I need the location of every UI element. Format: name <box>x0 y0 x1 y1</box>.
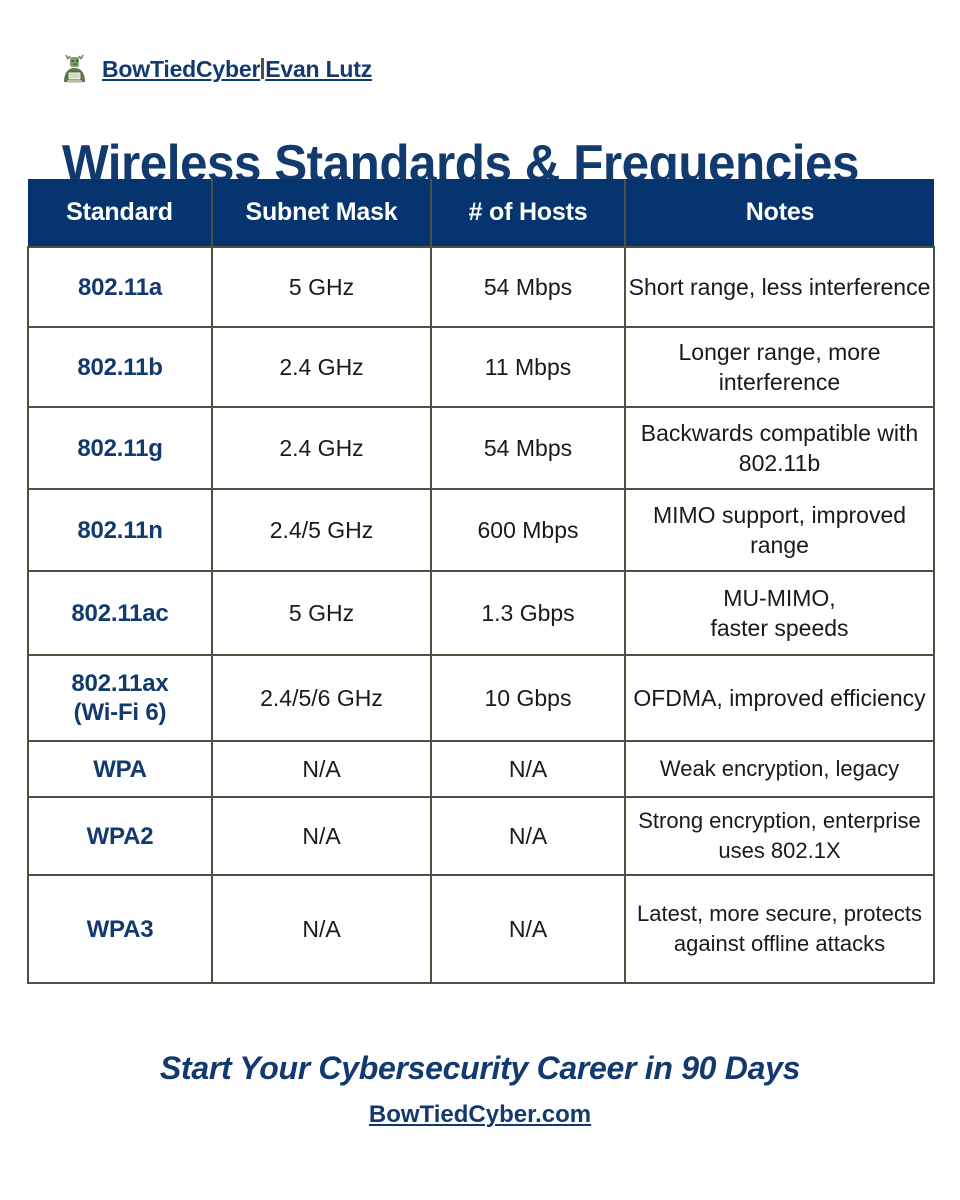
cell-notes: Weak encryption, legacy <box>625 741 934 797</box>
table-row: 802.11ax (Wi-Fi 6) 2.4/5/6 GHz 10 Gbps O… <box>28 655 934 741</box>
cell-notes: Latest, more secure, protects against of… <box>625 875 934 983</box>
table-header-row: Standard Subnet Mask # of Hosts Notes <box>28 179 934 247</box>
footer-website-link[interactable]: BowTiedCyber.com <box>369 1100 591 1130</box>
table-body: 802.11a 5 GHz 54 Mbps Short range, less … <box>28 247 934 983</box>
cell-standard: 802.11ax (Wi-Fi 6) <box>28 655 212 741</box>
brand-text: BowTiedCyber Evan Lutz <box>102 56 372 83</box>
bowtiedcyber-avatar-icon <box>58 52 92 86</box>
cell-subnet-mask: 2.4 GHz <box>212 407 431 489</box>
cell-subnet-mask: 2.4/5 GHz <box>212 489 431 571</box>
cell-notes: MIMO support, improved range <box>625 489 934 571</box>
cell-standard: 802.11g <box>28 407 212 489</box>
cell-notes: OFDMA, improved efficiency <box>625 655 934 741</box>
table-row: 802.11b 2.4 GHz 11 Mbps Longer range, mo… <box>28 327 934 407</box>
table-row: WPA N/A N/A Weak encryption, legacy <box>28 741 934 797</box>
cell-hosts: 54 Mbps <box>431 407 625 489</box>
brand-author-link[interactable]: Evan Lutz <box>265 56 372 83</box>
table-row: 802.11a 5 GHz 54 Mbps Short range, less … <box>28 247 934 327</box>
column-header-hosts: # of Hosts <box>431 179 625 247</box>
cell-standard: 802.11ac <box>28 571 212 655</box>
cell-hosts: N/A <box>431 741 625 797</box>
cell-standard: 802.11a <box>28 247 212 327</box>
footer: Start Your Cybersecurity Career in 90 Da… <box>0 1048 960 1130</box>
cell-standard: WPA2 <box>28 797 212 875</box>
cell-notes: Backwards compatible with 802.11b <box>625 407 934 489</box>
cell-subnet-mask: 2.4 GHz <box>212 327 431 407</box>
column-header-notes: Notes <box>625 179 934 247</box>
cell-hosts: 54 Mbps <box>431 247 625 327</box>
cell-standard: WPA3 <box>28 875 212 983</box>
table-row: 802.11ac 5 GHz 1.3 Gbps MU-MIMO, faster … <box>28 571 934 655</box>
cell-notes: MU-MIMO, faster speeds <box>625 571 934 655</box>
cell-notes: Strong encryption, enterprise uses 802.1… <box>625 797 934 875</box>
wireless-standards-table: Standard Subnet Mask # of Hosts Notes 80… <box>27 179 935 984</box>
table-row: WPA2 N/A N/A Strong encryption, enterpri… <box>28 797 934 875</box>
cell-notes: Longer range, more interference <box>625 327 934 407</box>
brand-separator-icon <box>261 58 264 79</box>
wireless-standards-table-wrap: Standard Subnet Mask # of Hosts Notes 80… <box>27 179 933 984</box>
brand-name-link[interactable]: BowTiedCyber <box>102 56 260 83</box>
cell-hosts: N/A <box>431 797 625 875</box>
cell-hosts: 600 Mbps <box>431 489 625 571</box>
table-header: Standard Subnet Mask # of Hosts Notes <box>28 179 934 247</box>
cheatsheet-page: BowTiedCyber Evan Lutz Wireless Standard… <box>0 0 960 1200</box>
cell-subnet-mask: 5 GHz <box>212 247 431 327</box>
footer-tagline: Start Your Cybersecurity Career in 90 Da… <box>0 1048 960 1088</box>
cell-hosts: 1.3 Gbps <box>431 571 625 655</box>
cell-subnet-mask: N/A <box>212 797 431 875</box>
cell-subnet-mask: N/A <box>212 875 431 983</box>
table-row: 802.11g 2.4 GHz 54 Mbps Backwards compat… <box>28 407 934 489</box>
brand-header: BowTiedCyber Evan Lutz <box>58 44 372 94</box>
cell-hosts: 11 Mbps <box>431 327 625 407</box>
cell-standard: WPA <box>28 741 212 797</box>
cell-subnet-mask: N/A <box>212 741 431 797</box>
column-header-subnet-mask: Subnet Mask <box>212 179 431 247</box>
cell-standard: 802.11b <box>28 327 212 407</box>
cell-hosts: 10 Gbps <box>431 655 625 741</box>
cell-standard: 802.11n <box>28 489 212 571</box>
cell-notes: Short range, less interference <box>625 247 934 327</box>
cell-subnet-mask: 2.4/5/6 GHz <box>212 655 431 741</box>
cell-hosts: N/A <box>431 875 625 983</box>
table-row: WPA3 N/A N/A Latest, more secure, protec… <box>28 875 934 983</box>
cell-subnet-mask: 5 GHz <box>212 571 431 655</box>
table-row: 802.11n 2.4/5 GHz 600 Mbps MIMO support,… <box>28 489 934 571</box>
column-header-standard: Standard <box>28 179 212 247</box>
